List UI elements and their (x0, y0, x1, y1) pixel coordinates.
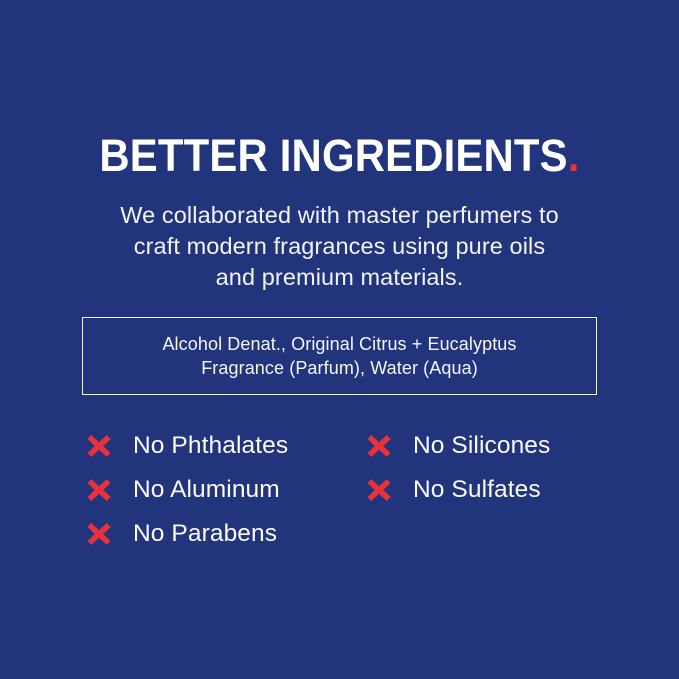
ingredients-line-2: Fragrance (Parfum), Water (Aqua) (201, 356, 478, 380)
claim-label: No Aluminum (133, 476, 280, 504)
claims-column-right: No Silicones No Sulfates (366, 424, 550, 512)
subheading-line-1: We collaborated with master perfumers to (0, 200, 679, 231)
subheading-line-2: craft modern fragrances using pure oils (0, 231, 679, 262)
list-item: No Sulfates (366, 468, 550, 512)
claim-label: No Sulfates (413, 476, 541, 504)
red-x-icon (86, 477, 112, 503)
ingredients-box: Alcohol Denat., Original Citrus + Eucaly… (82, 317, 597, 395)
red-x-icon (86, 433, 112, 459)
claims-column-left: No Phthalates No Aluminum No Parabens (86, 424, 288, 556)
ingredients-line-1: Alcohol Denat., Original Citrus + Eucaly… (162, 332, 516, 356)
red-x-icon (366, 433, 392, 459)
list-item: No Phthalates (86, 424, 288, 468)
better-ingredients-poster: BETTER INGREDIENTS. We collaborated with… (0, 0, 679, 679)
red-x-icon (366, 477, 392, 503)
list-item: No Parabens (86, 512, 288, 556)
headline-accent-period: . (568, 130, 580, 181)
claim-label: No Silicones (413, 432, 550, 460)
subheading-line-3: and premium materials. (0, 262, 679, 293)
claims-list: No Phthalates No Aluminum No Parabens (0, 424, 679, 564)
red-x-icon (86, 521, 112, 547)
claim-label: No Phthalates (133, 432, 288, 460)
list-item: No Aluminum (86, 468, 288, 512)
subheading: We collaborated with master perfumers to… (0, 200, 679, 293)
headline-text: BETTER INGREDIENTS (99, 130, 567, 181)
list-item: No Silicones (366, 424, 550, 468)
page-title: BETTER INGREDIENTS. (24, 131, 655, 181)
claim-label: No Parabens (133, 520, 277, 548)
